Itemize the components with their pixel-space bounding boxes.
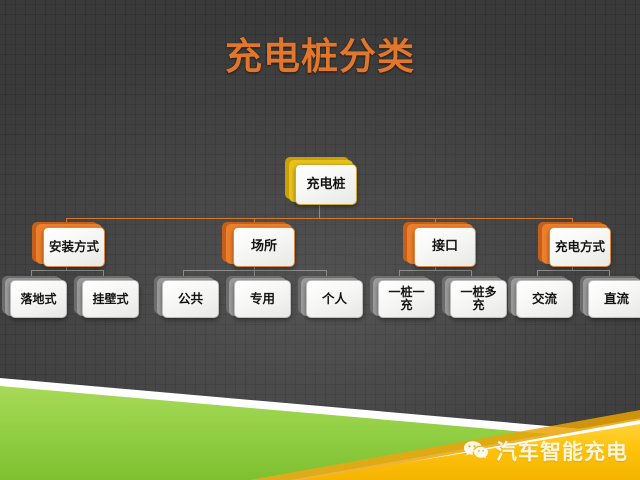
- node-root[interactable]: 充电桩: [285, 157, 359, 207]
- node-leaf-jiaoliu[interactable]: 交流: [508, 276, 578, 320]
- connector-root-stem: [319, 205, 320, 219]
- node-branch-changsuo[interactable]: 场所: [222, 222, 302, 268]
- node-branch-label: 充电方式: [549, 227, 611, 267]
- node-leaf-label: 一桩一充: [378, 280, 435, 318]
- node-branch-chongdianfangshi[interactable]: 充电方式: [538, 222, 618, 268]
- node-branch-anzhuangfangshi[interactable]: 安装方式: [32, 222, 112, 268]
- node-leaf-yizhuangduochong[interactable]: 一桩多充: [442, 276, 512, 320]
- green-band-white-edge: [0, 378, 640, 443]
- node-leaf-label: 一桩多充: [450, 280, 507, 318]
- node-leaf-label: 直流: [588, 280, 640, 318]
- node-leaf-zhiliu[interactable]: 直流: [580, 276, 640, 320]
- connector-branch-0-bus: [31, 270, 103, 271]
- node-leaf-label: 公共: [162, 280, 219, 318]
- node-branch-jiekou[interactable]: 接口: [403, 222, 483, 268]
- node-branch-label: 安装方式: [43, 227, 105, 267]
- node-leaf-luodishi[interactable]: 落地式: [2, 276, 72, 320]
- node-leaf-guabishi[interactable]: 挂壁式: [74, 276, 144, 320]
- page-title: 充电桩分类: [0, 26, 640, 80]
- node-branch-label: 接口: [414, 227, 476, 267]
- node-branch-label: 场所: [233, 227, 295, 267]
- node-leaf-geren[interactable]: 个人: [298, 276, 368, 320]
- slide-canvas: 充电桩分类 充电桩 安装方式 场所: [0, 0, 640, 480]
- node-leaf-label: 挂壁式: [82, 280, 139, 318]
- node-leaf-label: 个人: [306, 280, 363, 318]
- watermark-text: 汽车智能充电: [496, 436, 628, 466]
- node-leaf-label: 专用: [234, 280, 291, 318]
- watermark: 汽车智能充电: [463, 436, 628, 466]
- node-leaf-zhuanyong[interactable]: 专用: [226, 276, 296, 320]
- connector-branch-2-bus: [399, 270, 471, 271]
- node-leaf-gonggong[interactable]: 公共: [154, 276, 224, 320]
- node-root-label: 充电桩: [295, 164, 357, 205]
- connector-level2-bus: [66, 218, 572, 219]
- node-leaf-label: 落地式: [10, 280, 67, 318]
- connector-branch-3-bus: [537, 270, 609, 271]
- wechat-icon: [463, 440, 489, 462]
- node-leaf-yizhuangyichong[interactable]: 一桩一充: [370, 276, 440, 320]
- node-leaf-label: 交流: [516, 280, 573, 318]
